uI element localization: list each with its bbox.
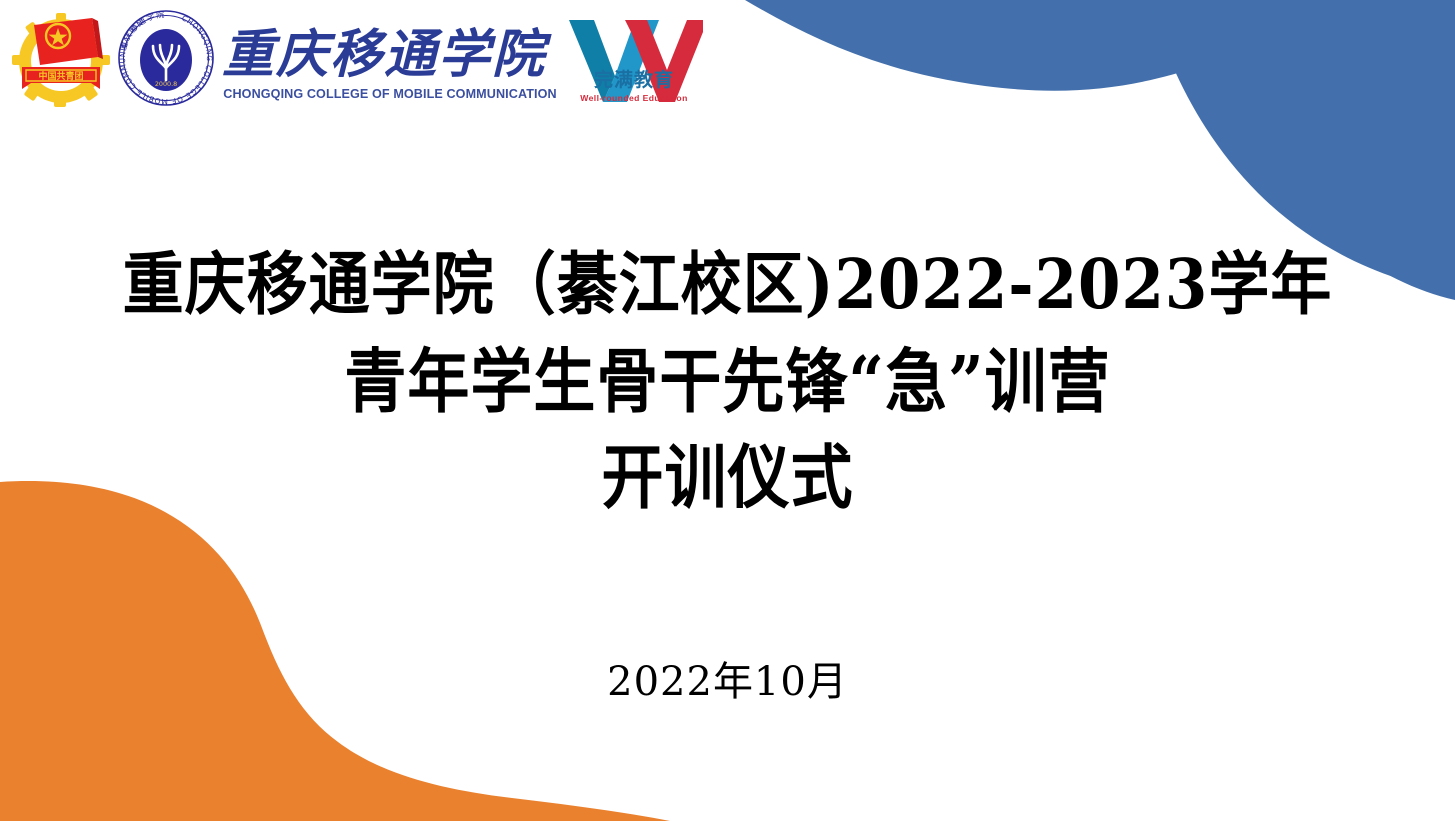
wordmark-name-cn: 重庆移通学院 xyxy=(222,24,552,85)
vm-name-cn: 完满教育 xyxy=(594,68,674,91)
seal-founded-year: 2000.8 xyxy=(155,80,177,88)
vm-name-en: Well-rounded Education xyxy=(580,93,687,103)
communist-youth-league-emblem-icon: 中国共青团 xyxy=(8,5,114,115)
blue-wave-shape xyxy=(745,0,1345,91)
slide-title: 重庆移通学院（綦江校区)2022-2023学年 青年学生骨干先锋“急”训营 开训… xyxy=(0,232,1455,520)
logo-bar: 中国共青团 CHONGQING COLLEGE OF MOBILE COMMUN… xyxy=(8,6,705,114)
vm-well-rounded-education-logo-icon: 完满教育 Well-rounded Education xyxy=(563,6,705,114)
title-slide: 中国共青团 CHONGQING COLLEGE OF MOBILE COMMUN… xyxy=(0,0,1455,821)
chongqing-college-round-seal-icon: CHONGQING COLLEGE OF MOBILE COMMUNICATIO… xyxy=(114,6,218,114)
title-line-1: 重庆移通学院（綦江校区)2022-2023学年 xyxy=(0,232,1455,340)
wordmark-name-en: CHONGQING COLLEGE OF MOBILE COMMUNICATIO… xyxy=(223,87,556,101)
chongqing-college-wordmark-icon: 重庆移通学院 CHONGQING COLLEGE OF MOBILE COMMU… xyxy=(218,6,563,114)
title-line-3: 开训仪式 xyxy=(0,424,1455,532)
slide-date: 2022年10月 xyxy=(0,655,1455,709)
cyl-banner-text: 中国共青团 xyxy=(38,70,83,82)
orange-wave-shape xyxy=(0,481,670,821)
title-line-2: 青年学生骨干先锋“急”训营 xyxy=(0,328,1455,436)
